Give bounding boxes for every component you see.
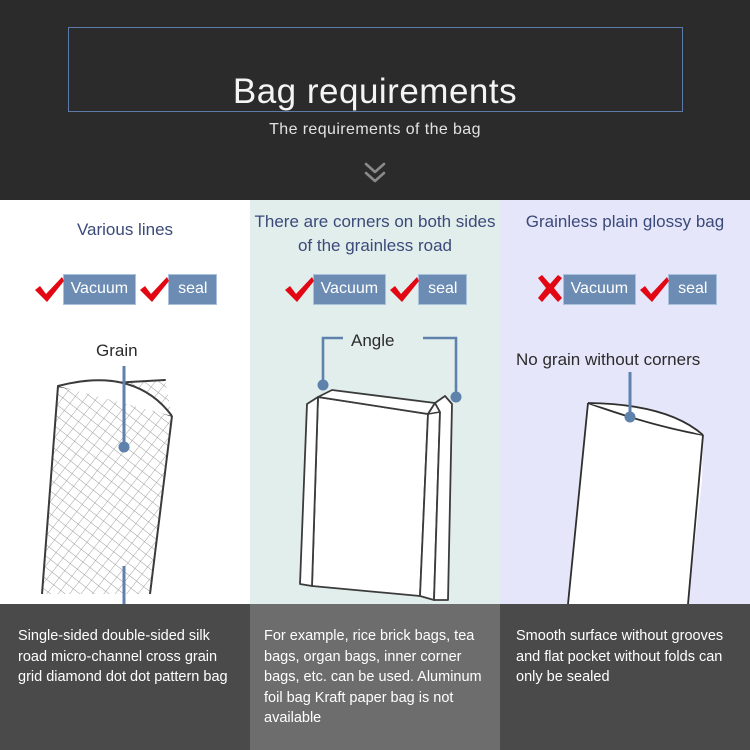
header-banner: Bag requirements The requirements of the… [0,0,750,200]
check-icon [638,275,672,305]
column-badge-row: Vacuum seal [250,274,500,305]
column-corners-both-sides: There are corners on both sides of the g… [250,200,500,604]
check-icon [388,275,422,305]
caption-various-lines: Single-sided double-sided silk road micr… [0,604,250,750]
column-grainless-glossy: Grainless plain glossy bag Vacuum seal [500,200,750,604]
column-title: There are corners on both sides of the g… [254,210,496,258]
page-title: Bag requirements [0,72,750,112]
column-badge-row: Vacuum seal [0,274,250,305]
column-various-lines: Various lines Vacuum seal [0,200,250,604]
column-badge-row: Vacuum seal [500,274,750,305]
bag-requirements-infographic: Bag requirements The requirements of the… [0,0,750,750]
badge-seal: seal [668,274,717,305]
caption-corners-both-sides: For example, rice brick bags, tea bags, … [250,604,500,750]
caption-grainless-glossy: Smooth surface without grooves and flat … [500,604,750,750]
badge-seal: seal [168,274,217,305]
callout-label-angle: Angle [351,331,394,351]
badge-vacuum: Vacuum [563,274,637,305]
gusset-bag-illustration [250,200,500,604]
check-icon [138,275,172,305]
cross-icon [533,275,567,305]
check-icon [33,275,67,305]
callout-label-grain: Grain [96,341,138,361]
badge-seal: seal [418,274,467,305]
callout-label-no-grain: No grain without corners [516,350,700,370]
comparison-columns: Various lines Vacuum seal [0,200,750,604]
column-title: Grainless plain glossy bag [504,210,746,234]
chevron-double-down-icon [0,160,750,191]
plain-bag-illustration [500,200,750,604]
page-subtitle: The requirements of the bag [0,120,750,140]
column-title: Various lines [4,218,246,242]
check-icon [283,275,317,305]
badge-vacuum: Vacuum [63,274,137,305]
badge-vacuum: Vacuum [313,274,387,305]
caption-bars: Single-sided double-sided silk road micr… [0,604,750,750]
grain-bag-illustration [0,200,250,604]
